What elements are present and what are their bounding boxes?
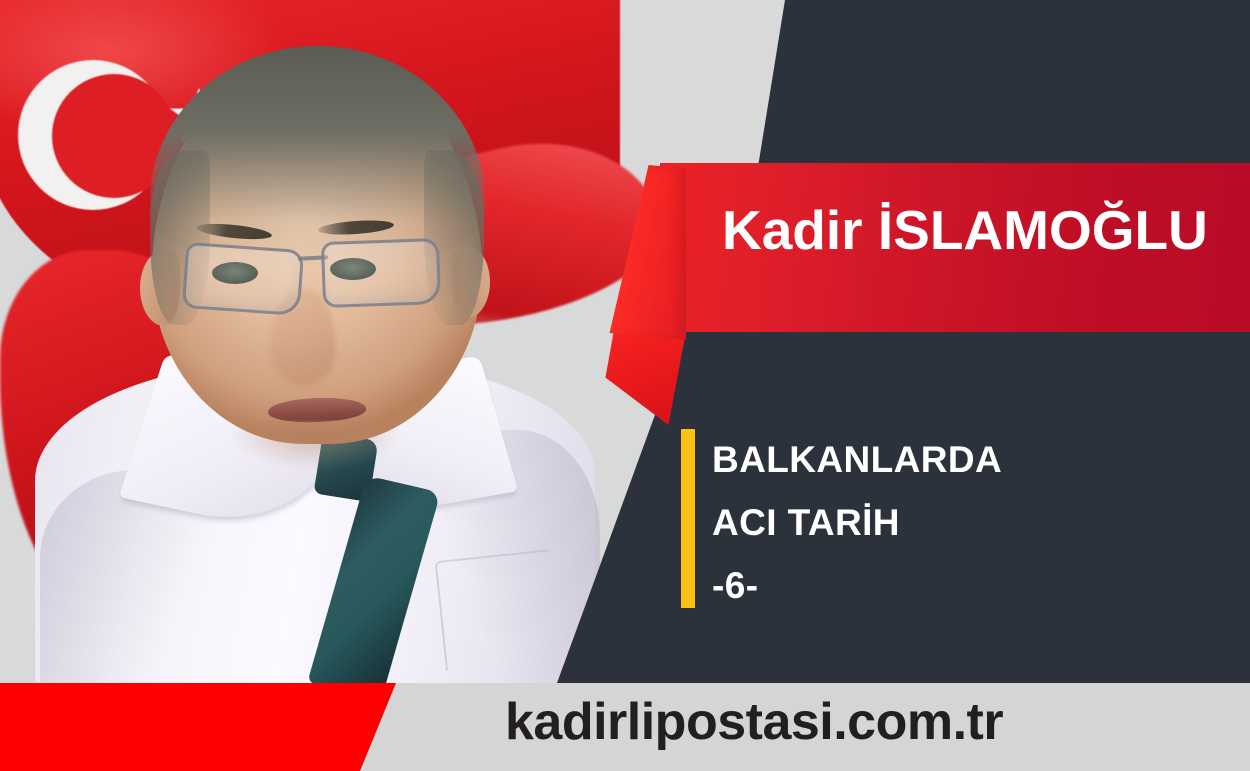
author-name: Kadir İSLAMOĞLU xyxy=(722,203,1208,258)
glasses-lens-right xyxy=(321,238,441,308)
headline-line-1: BALKANLARDA xyxy=(712,428,1182,491)
headline-accent-bar xyxy=(681,429,695,608)
chin-shadow xyxy=(230,420,400,470)
eyeglasses-icon xyxy=(176,240,456,314)
headline: BALKANLARDA ACI TARİH -6- xyxy=(712,428,1182,617)
article-banner-card: Kadir İSLAMOĞLU BALKANLARDA ACI TARİH -6… xyxy=(0,0,1250,771)
shirt-pocket xyxy=(435,549,561,670)
glasses-lens-left xyxy=(182,242,304,316)
headline-line-3: -6- xyxy=(712,554,1182,617)
headline-line-2: ACI TARİH xyxy=(712,491,1182,554)
portrait-figure xyxy=(0,0,620,690)
footer-accent-shape xyxy=(0,683,400,771)
site-url[interactable]: kadirlipostasi.com.tr xyxy=(505,694,1003,751)
